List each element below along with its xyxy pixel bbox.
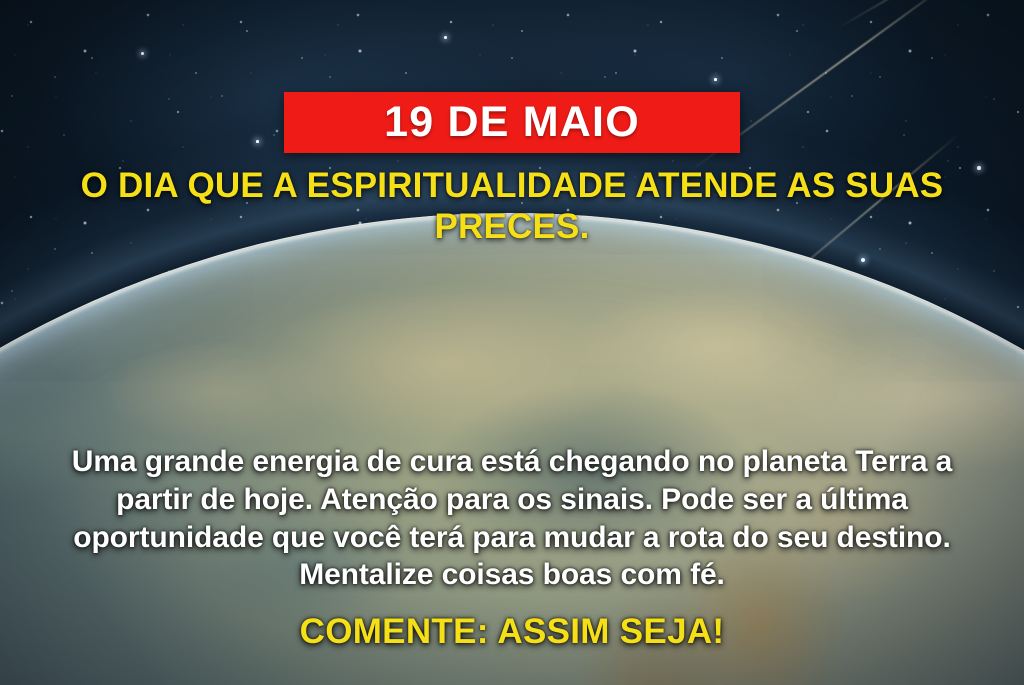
poster-content: 19 DE MAIO O DIA QUE A ESPIRITUALIDADE A…: [0, 0, 1024, 685]
call-to-action-text: COMENTE: ASSIM SEJA!: [0, 612, 1024, 652]
headline-text: O DIA QUE A ESPIRITUALIDADE ATENDE AS SU…: [0, 166, 1024, 247]
poster-canvas: 19 DE MAIO O DIA QUE A ESPIRITUALIDADE A…: [0, 0, 1024, 685]
date-banner-label: 19 DE MAIO: [384, 101, 640, 144]
date-banner: 19 DE MAIO: [284, 92, 740, 153]
body-text: Uma grande energia de cura está chegando…: [62, 443, 962, 594]
